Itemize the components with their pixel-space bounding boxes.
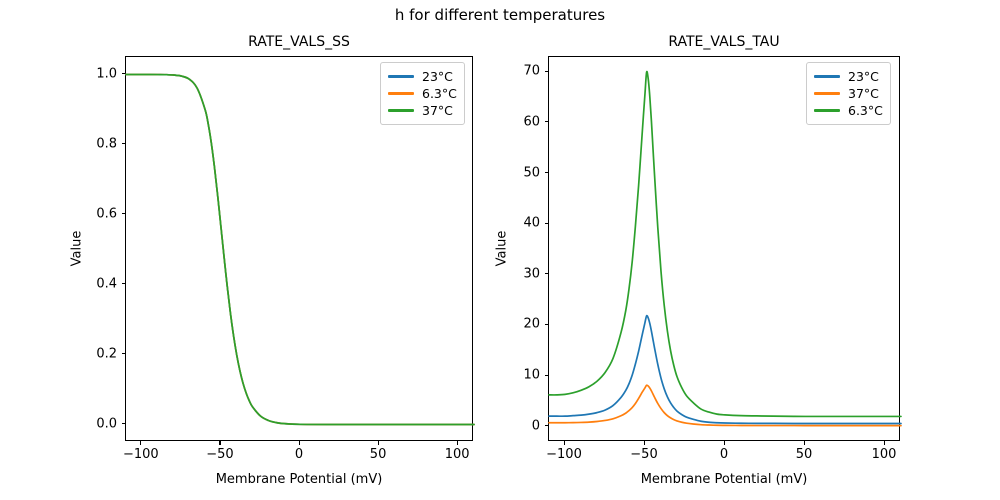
xtick-mark bbox=[219, 441, 220, 445]
xtick-mark bbox=[724, 441, 725, 445]
xtick-label: 100 bbox=[844, 447, 924, 462]
xtick-mark bbox=[299, 441, 300, 445]
legend-label: 6.3°C bbox=[848, 103, 883, 118]
legend-label: 37°C bbox=[848, 86, 879, 101]
ytick-label: 0.2 bbox=[50, 346, 117, 361]
matplotlib-figure: h for different temperatures RATE_VALS_S… bbox=[0, 0, 1000, 500]
ytick-label: 1.0 bbox=[50, 66, 117, 81]
ytick-mark bbox=[122, 143, 126, 144]
xtick-mark bbox=[457, 441, 458, 445]
series-line-37°C bbox=[126, 74, 474, 424]
series-line-23°C bbox=[126, 74, 474, 424]
xlabel-tau: Membrane Potential (mV) bbox=[548, 472, 900, 487]
ytick-label: 0 bbox=[473, 418, 540, 433]
xtick-mark bbox=[140, 441, 141, 445]
legend-label: 37°C bbox=[422, 103, 453, 118]
xtick-label: 0 bbox=[259, 447, 339, 462]
subplot-title-tau: RATE_VALS_TAU bbox=[548, 34, 900, 50]
xtick-mark bbox=[644, 441, 645, 445]
ytick-label: 70 bbox=[473, 64, 540, 79]
legend-color-swatch bbox=[814, 92, 840, 94]
xtick-label: 100 bbox=[417, 447, 497, 462]
ytick-label: 0.0 bbox=[50, 416, 117, 431]
legend-item[interactable]: 37°C bbox=[388, 102, 457, 119]
legend-ss[interactable]: 23°C6.3°C37°C bbox=[380, 62, 465, 125]
ytick-mark bbox=[545, 375, 549, 376]
xtick-label: 50 bbox=[338, 447, 418, 462]
legend-color-swatch bbox=[388, 75, 414, 77]
xtick-mark bbox=[378, 441, 379, 445]
xtick-label: −50 bbox=[604, 447, 684, 462]
series-line-6.3°C bbox=[126, 74, 474, 424]
series-line-37°C bbox=[549, 385, 901, 425]
legend-label: 6.3°C bbox=[422, 86, 457, 101]
legend-item[interactable]: 23°C bbox=[814, 68, 883, 85]
ytick-mark bbox=[545, 121, 549, 122]
legend-color-swatch bbox=[814, 109, 840, 111]
legend-tau[interactable]: 23°C37°C6.3°C bbox=[806, 62, 891, 125]
xtick-label: 0 bbox=[684, 447, 764, 462]
ytick-mark bbox=[545, 425, 549, 426]
ytick-mark bbox=[545, 273, 549, 274]
ytick-mark bbox=[122, 73, 126, 74]
ytick-mark bbox=[545, 172, 549, 173]
ytick-mark bbox=[545, 223, 549, 224]
xtick-mark bbox=[564, 441, 565, 445]
xtick-mark bbox=[884, 441, 885, 445]
xtick-label: −100 bbox=[524, 447, 604, 462]
subplot-title-ss: RATE_VALS_SS bbox=[125, 34, 473, 50]
ytick-label: 0.8 bbox=[50, 136, 117, 151]
ytick-mark bbox=[122, 213, 126, 214]
legend-color-swatch bbox=[388, 109, 414, 111]
ytick-mark bbox=[545, 324, 549, 325]
ylabel-ss: Value bbox=[70, 169, 85, 329]
legend-color-swatch bbox=[814, 75, 840, 77]
ytick-label: 60 bbox=[473, 114, 540, 129]
series-line-23°C bbox=[549, 316, 901, 424]
ytick-mark bbox=[122, 423, 126, 424]
ylabel-tau: Value bbox=[495, 169, 510, 329]
legend-label: 23°C bbox=[422, 69, 453, 84]
xtick-mark bbox=[804, 441, 805, 445]
xtick-label: −100 bbox=[101, 447, 181, 462]
figure-suptitle: h for different temperatures bbox=[0, 6, 1000, 24]
xtick-label: −50 bbox=[180, 447, 260, 462]
legend-color-swatch bbox=[388, 92, 414, 94]
xtick-label: 50 bbox=[764, 447, 844, 462]
legend-item[interactable]: 37°C bbox=[814, 85, 883, 102]
legend-label: 23°C bbox=[848, 69, 879, 84]
ytick-mark bbox=[545, 71, 549, 72]
legend-item[interactable]: 6.3°C bbox=[388, 85, 457, 102]
ytick-label: 10 bbox=[473, 368, 540, 383]
ytick-mark bbox=[122, 283, 126, 284]
legend-item[interactable]: 6.3°C bbox=[814, 102, 883, 119]
ytick-mark bbox=[122, 353, 126, 354]
xlabel-ss: Membrane Potential (mV) bbox=[125, 472, 473, 487]
legend-item[interactable]: 23°C bbox=[388, 68, 457, 85]
